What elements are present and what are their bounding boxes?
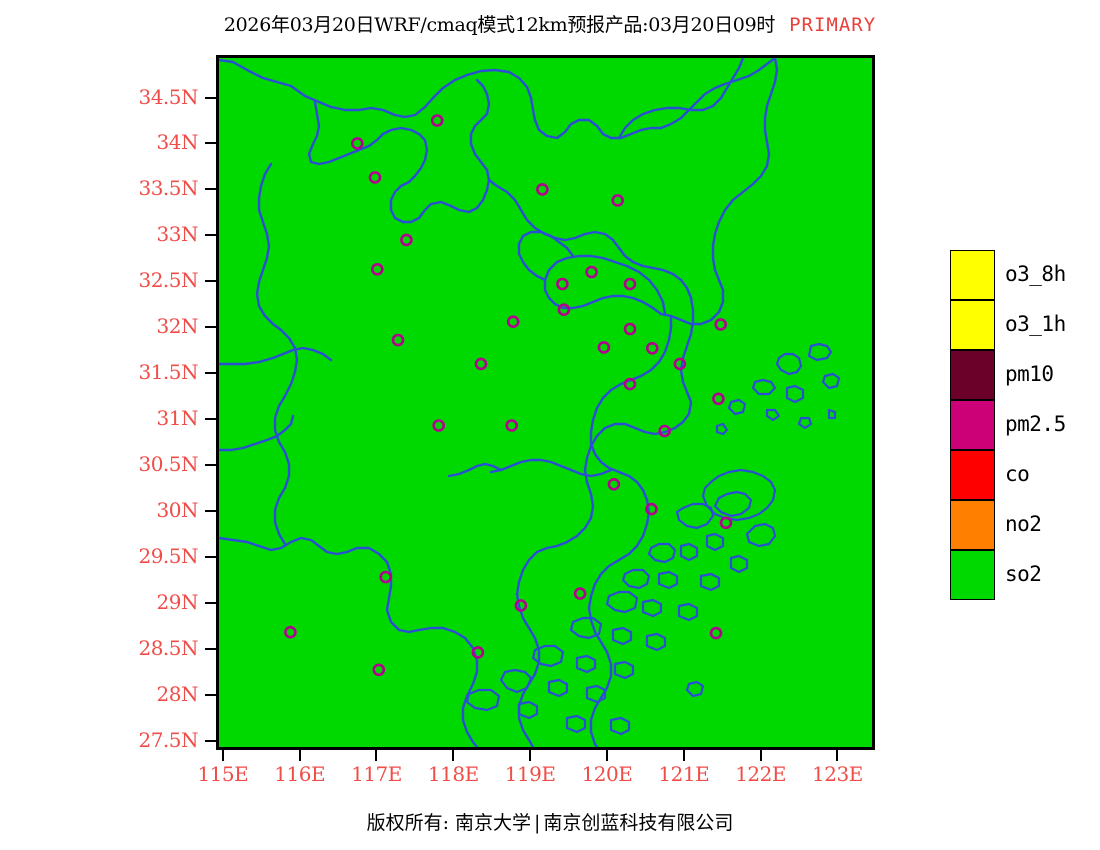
station-marker[interactable] (434, 421, 444, 431)
station-marker[interactable] (675, 359, 685, 369)
legend-swatch (950, 250, 995, 300)
station-markers-group (285, 116, 731, 675)
station-marker[interactable] (352, 138, 362, 148)
station-marker[interactable] (393, 335, 403, 345)
station-marker[interactable] (711, 628, 721, 638)
y-axis-tick (205, 740, 216, 742)
station-marker[interactable] (647, 343, 657, 353)
station-marker[interactable] (432, 116, 442, 126)
x-axis-tick (836, 750, 838, 761)
x-axis-tick (760, 750, 762, 761)
x-axis-tick (299, 750, 301, 761)
station-marker[interactable] (507, 421, 517, 431)
station-marker[interactable] (625, 324, 635, 334)
legend-label: so2 (1005, 562, 1041, 586)
footer-copyright: 版权所有: 南京大学|南京创蓝科技有限公司 (0, 808, 1100, 835)
y-axis-tick (205, 648, 216, 650)
legend-label: o3_1h (1005, 312, 1066, 336)
station-marker[interactable] (508, 317, 518, 327)
station-marker[interactable] (537, 184, 547, 194)
station-marker[interactable] (587, 267, 597, 277)
legend-swatch (950, 350, 995, 400)
station-marker[interactable] (559, 305, 569, 315)
footer-copyright-text: 版权所有: 南京大学 (367, 812, 531, 834)
y-axis-tick (205, 556, 216, 558)
province-boundaries (219, 58, 839, 747)
y-axis-label: 29N (112, 590, 198, 614)
station-marker[interactable] (716, 319, 726, 329)
station-marker[interactable] (381, 572, 391, 582)
legend-swatch (950, 550, 995, 600)
station-marker[interactable] (625, 279, 635, 289)
station-marker[interactable] (370, 172, 380, 182)
station-marker[interactable] (599, 342, 609, 352)
title-primary-label: PRIMARY (775, 14, 876, 36)
map-plot-area[interactable] (216, 55, 875, 750)
station-marker[interactable] (476, 359, 486, 369)
station-marker[interactable] (713, 394, 723, 404)
x-axis-label: 123E (792, 762, 882, 786)
map-vector-layer (219, 58, 872, 747)
x-axis-tick (683, 750, 685, 761)
legend-label: no2 (1005, 512, 1041, 536)
y-axis-tick (205, 280, 216, 282)
x-axis-tick (375, 750, 377, 761)
y-axis-tick (205, 188, 216, 190)
y-axis-label: 29.5N (112, 544, 198, 568)
station-marker[interactable] (575, 589, 585, 599)
y-axis-label: 28.5N (112, 636, 198, 660)
footer-company-text: 南京创蓝科技有限公司 (543, 812, 733, 834)
legend-label: pm2.5 (1005, 412, 1066, 436)
y-axis-label: 34.5N (112, 85, 198, 109)
legend-swatch (950, 450, 995, 500)
y-axis-tick (205, 464, 216, 466)
y-axis-label: 31N (112, 406, 198, 430)
legend-label: pm10 (1005, 362, 1054, 386)
legend-swatch (950, 500, 995, 550)
y-axis-tick (205, 97, 216, 99)
y-axis-tick (205, 234, 216, 236)
y-axis-tick (205, 510, 216, 512)
y-axis-label: 30N (112, 498, 198, 522)
station-marker[interactable] (374, 665, 384, 675)
y-axis-label: 34N (112, 130, 198, 154)
title-main-text: 2026年03月20日WRF/cmaq模式12km预报产品:03月20日09时 (224, 14, 775, 36)
y-axis-label: 33.5N (112, 176, 198, 200)
legend-label: o3_8h (1005, 262, 1066, 286)
y-axis-label: 32N (112, 314, 198, 338)
station-marker[interactable] (401, 235, 411, 245)
station-marker[interactable] (609, 479, 619, 489)
y-axis-tick (205, 372, 216, 374)
station-marker[interactable] (372, 264, 382, 274)
y-axis-tick (205, 326, 216, 328)
station-marker[interactable] (285, 627, 295, 637)
y-axis-label: 31.5N (112, 360, 198, 384)
y-axis-tick (205, 694, 216, 696)
legend-swatch (950, 300, 995, 350)
station-marker[interactable] (613, 195, 623, 205)
chart-title: 2026年03月20日WRF/cmaq模式12km预报产品:03月20日09时P… (0, 10, 1100, 37)
y-axis-label: 33N (112, 222, 198, 246)
y-axis-tick (205, 602, 216, 604)
legend-label: co (1005, 462, 1029, 486)
station-marker[interactable] (721, 518, 731, 528)
footer-separator: | (531, 812, 543, 834)
x-axis-tick (222, 750, 224, 761)
x-axis-tick (529, 750, 531, 761)
x-axis-tick (606, 750, 608, 761)
legend-swatch (950, 400, 995, 450)
y-axis-tick (205, 418, 216, 420)
station-marker[interactable] (557, 279, 567, 289)
y-axis-label: 28N (112, 682, 198, 706)
y-axis-tick (205, 142, 216, 144)
y-axis-label: 30.5N (112, 452, 198, 476)
y-axis-label: 32.5N (112, 268, 198, 292)
y-axis-label: 27.5N (112, 728, 198, 752)
x-axis-tick (452, 750, 454, 761)
